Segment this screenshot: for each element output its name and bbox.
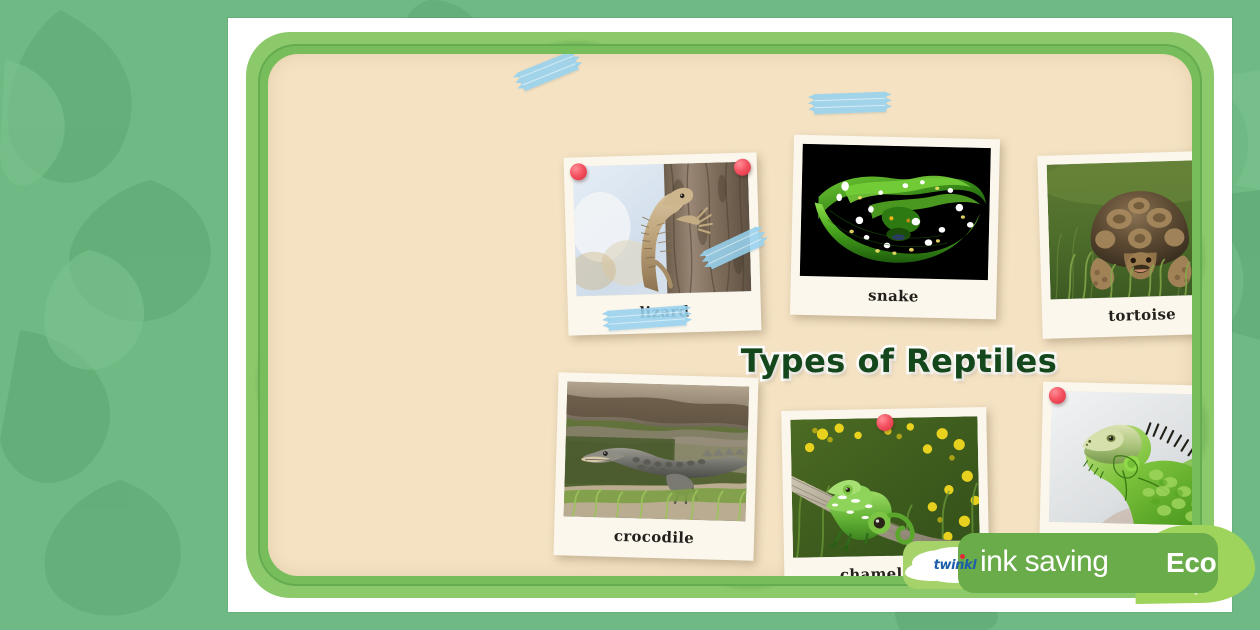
poster-canvas: lizard <box>268 54 1192 576</box>
card-label-snake: snake <box>799 275 988 318</box>
poster-stage: lizard <box>0 0 1260 630</box>
card-snake[interactable]: snake <box>790 135 1000 319</box>
card-label-crocodile: crocodile <box>562 516 745 560</box>
page-title: Types of Reptiles <box>734 342 1064 380</box>
twinkl-dot <box>960 554 965 559</box>
photo-iguana <box>1049 391 1192 526</box>
pin-icon <box>734 159 751 176</box>
photo-chameleon <box>790 416 980 558</box>
eco-label: Eco <box>1166 547 1216 579</box>
card-label-tortoise: tortoise <box>1051 294 1192 338</box>
tape-snake-top <box>517 54 578 91</box>
photo-lizard <box>573 162 752 296</box>
photo-snake <box>800 144 991 280</box>
pin-icon <box>876 414 893 431</box>
card-crocodile[interactable]: crocodile <box>553 372 758 560</box>
photo-tortoise <box>1047 159 1192 299</box>
tape-tortoise-top <box>814 92 887 115</box>
twinkl-wordmark: twinkl <box>934 558 977 573</box>
photo-crocodile <box>564 381 750 521</box>
card-tortoise[interactable]: tortoise <box>1037 150 1192 339</box>
ink-saving-label: ink saving <box>980 545 1108 579</box>
